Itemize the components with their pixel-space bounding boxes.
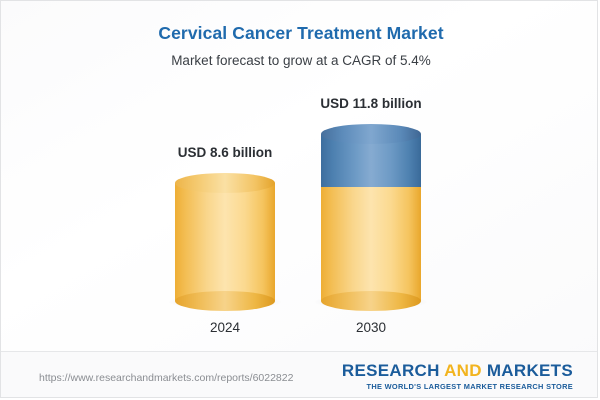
cylinder-top-cap	[175, 173, 275, 193]
bar-top-cap-2030	[321, 124, 421, 144]
cylinder-bottom-cap	[321, 291, 421, 311]
data-label-2024: USD 8.6 billion	[125, 145, 325, 160]
logo-word-research: RESEARCH	[342, 361, 444, 380]
bar-2024[interactable]	[175, 173, 275, 301]
bar-segment-base-2024	[175, 183, 275, 301]
report-url[interactable]: https://www.researchandmarkets.com/repor…	[39, 372, 293, 384]
bar-segment-base-2030	[321, 183, 421, 301]
cylinder-bottom-cap	[175, 291, 275, 311]
logo[interactable]: RESEARCH AND MARKETS THE WORLD'S LARGEST…	[342, 362, 573, 392]
logo-word-and: AND	[444, 361, 482, 380]
footer-divider	[1, 351, 598, 352]
logo-word-markets: MARKETS	[482, 361, 573, 380]
logo-wordmark: RESEARCH AND MARKETS	[342, 362, 573, 380]
data-label-2030: USD 11.8 billion	[271, 96, 471, 111]
logo-tagline: THE WORLD'S LARGEST MARKET RESEARCH STOR…	[342, 382, 573, 392]
category-label-2030: 2030	[271, 320, 471, 335]
bar-chart: USD 8.6 billion 2024 USD 11.8 billion	[1, 1, 598, 351]
cylinder-top-cap	[321, 124, 421, 144]
infographic-card: Cervical Cancer Treatment Market Market …	[0, 0, 598, 398]
bar-2030[interactable]	[321, 124, 421, 301]
bar-top-cap-2024	[175, 173, 275, 193]
